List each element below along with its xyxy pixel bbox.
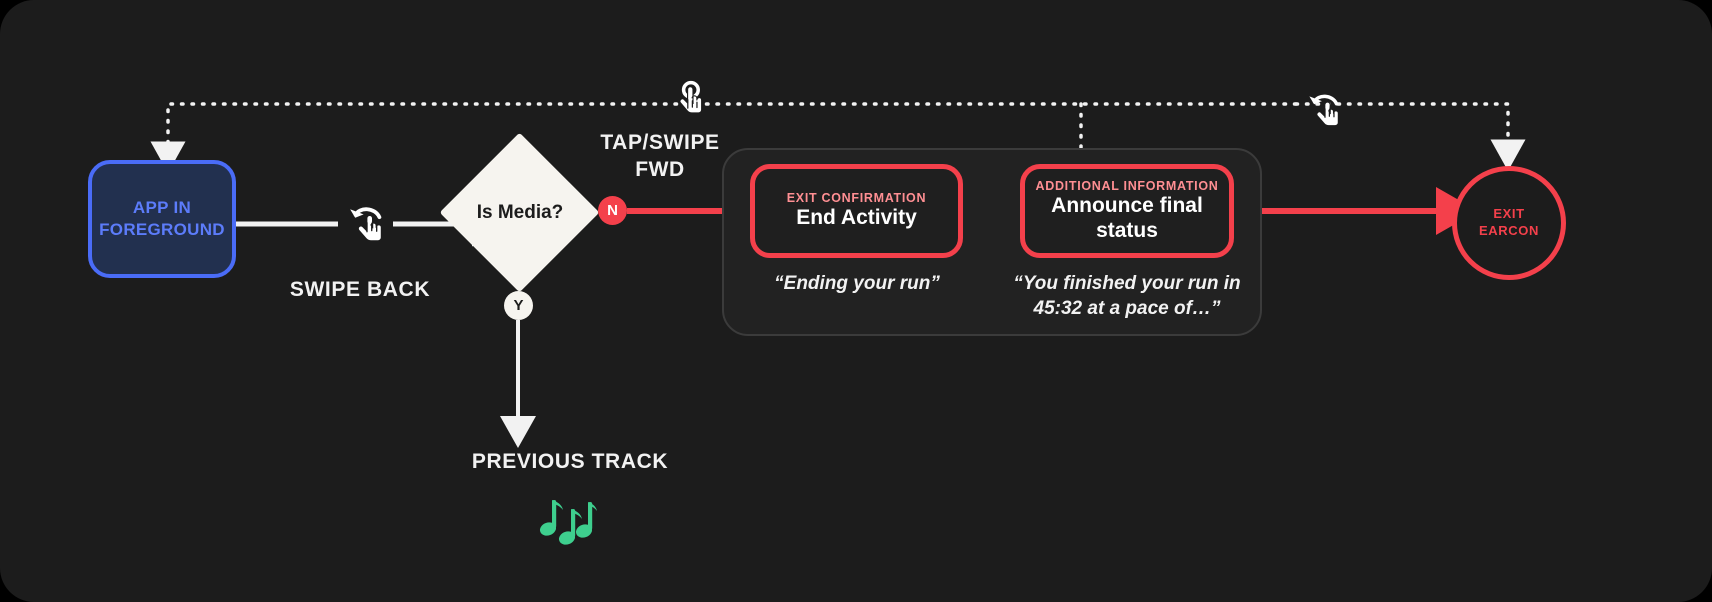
diagram-canvas: APP IN FOREGROUND SWIPE BACK Is Media? N… <box>0 0 1712 602</box>
app-label-line1: APP IN <box>99 197 225 219</box>
label-tap-swipe-line2: FWD <box>560 157 760 184</box>
label-previous-track: PREVIOUS TRACK <box>400 450 740 474</box>
card-exit-confirmation-title: End Activity <box>796 206 917 231</box>
swipe-back-gesture-icon-return <box>1300 86 1350 141</box>
tap-gesture-icon <box>670 80 716 135</box>
label-tap-swipe-fwd: TAP/SWIPE FWD <box>560 130 760 184</box>
card-additional-information-eyebrow: ADDITIONAL INFORMATION <box>1036 179 1219 193</box>
node-exit-earcon-label: EXIT EARCON <box>1479 206 1539 240</box>
swipe-back-gesture-icon <box>340 198 394 257</box>
label-tap-swipe-line1: TAP/SWIPE <box>560 130 760 157</box>
node-app-in-foreground[interactable]: APP IN FOREGROUND <box>88 160 236 278</box>
branch-badge-no: N <box>598 196 627 225</box>
music-notes-icon <box>535 497 597 560</box>
card-additional-information[interactable]: ADDITIONAL INFORMATION Announce final st… <box>1020 164 1234 258</box>
caption-additional-information: “You finished your run in 45:32 at a pac… <box>1012 272 1242 321</box>
node-exit-earcon[interactable]: EXIT EARCON <box>1452 166 1566 280</box>
app-label-line2: FOREGROUND <box>99 219 225 241</box>
card-additional-information-title: Announce final status <box>1025 194 1229 243</box>
card-exit-confirmation-eyebrow: EXIT CONFIRMATION <box>787 191 926 205</box>
earcon-label-line1: EXIT <box>1479 206 1539 223</box>
card-exit-confirmation[interactable]: EXIT CONFIRMATION End Activity <box>750 164 963 258</box>
caption-exit-confirmation: “Ending your run” <box>743 272 971 297</box>
branch-badge-yes: Y <box>504 291 533 320</box>
earcon-label-line2: EARCON <box>1479 223 1539 240</box>
node-app-in-foreground-label: APP IN FOREGROUND <box>99 197 225 241</box>
